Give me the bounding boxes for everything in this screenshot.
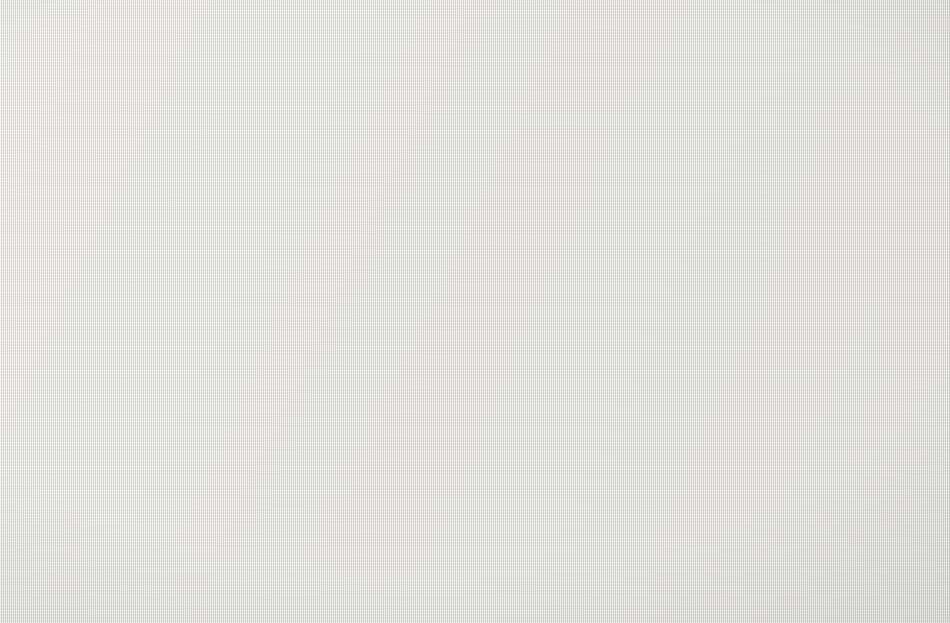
figure-left-canvas: z x [0, 198, 470, 623]
y-axis-label-right: y [817, 545, 830, 571]
x-axis-line-right [674, 563, 735, 608]
z-axis-arrowhead [235, 242, 246, 260]
horizontal-guide-line [240, 510, 412, 535]
x-axis-label: x [56, 513, 69, 543]
y-axis-arrowhead-right [837, 572, 859, 587]
statement-line-1: Evaluate the volume, the centroid and th… [14, 72, 950, 106]
y-axis-arrowhead [324, 592, 347, 611]
screenshot-root: Evaluate the volume, the centroid and th… [0, 0, 950, 623]
x-axis-group-right: x [664, 560, 735, 616]
x-axis-arrowhead [48, 568, 70, 580]
z-axis-label-right: z [749, 316, 758, 337]
figure-left-cone-and-plane: z x [0, 198, 470, 623]
x-axis-line [62, 535, 240, 574]
figure-right-canvas: z x y [600, 180, 950, 623]
z-axis-label: z [196, 245, 208, 274]
y-axis-label: y [289, 584, 304, 614]
y-axis-group-right: y [735, 545, 859, 587]
x-axis-label-right: x [665, 560, 676, 585]
x-axis-arrowhead-right [664, 605, 684, 616]
figure-right-solid: z x y [600, 180, 950, 623]
y-axis-group: y [240, 535, 347, 614]
y-axis-line [240, 535, 334, 602]
